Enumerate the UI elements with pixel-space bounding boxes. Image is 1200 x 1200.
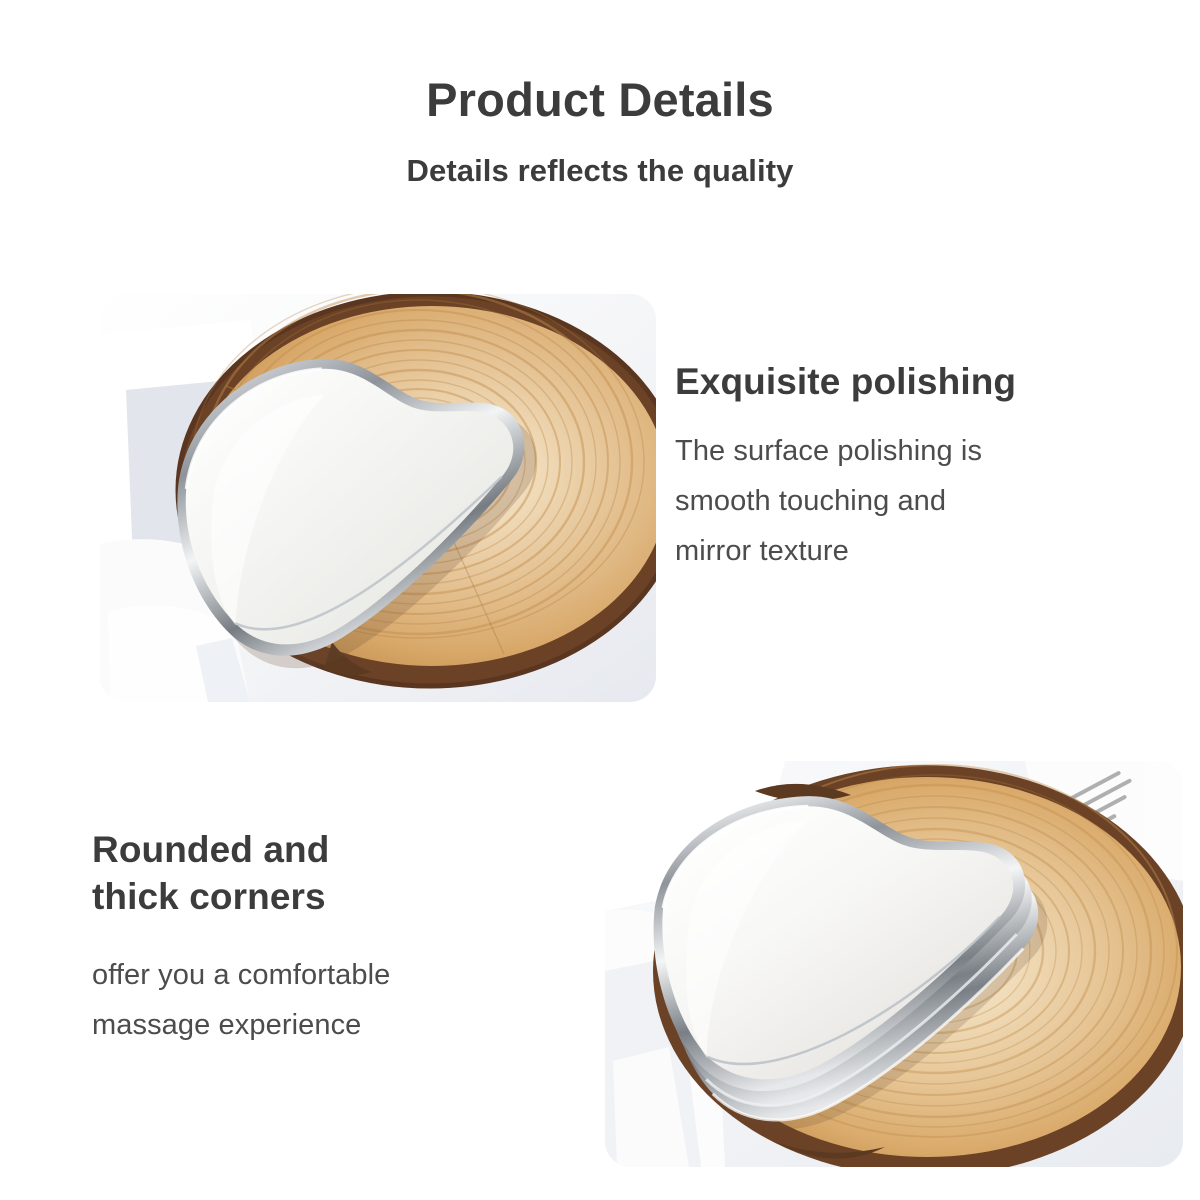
feature-heading-corners: Rounded and thick corners <box>92 826 552 921</box>
product-photo-corners-image <box>605 761 1183 1167</box>
page-subtitle: Details reflects the quality <box>0 126 1200 188</box>
product-photo-corners[interactable] <box>605 761 1183 1167</box>
feature-heading-polishing: Exquisite polishing <box>675 358 1145 405</box>
feature-body-corners: offer you a comfortable massage experien… <box>92 921 552 1051</box>
product-photo-polishing-image <box>100 294 656 702</box>
feature-body-line: massage experience <box>92 1001 552 1051</box>
feature-body-line: The surface polishing is <box>675 427 1145 477</box>
feature-body-polishing: The surface polishing is smooth touching… <box>675 405 1145 577</box>
feature-block-polishing: Exquisite polishing The surface polishin… <box>675 358 1145 577</box>
page-title: Product Details <box>0 0 1200 126</box>
feature-heading-line: Rounded and <box>92 826 552 873</box>
product-photo-polishing[interactable] <box>100 294 656 702</box>
feature-body-line: mirror texture <box>675 527 1145 577</box>
feature-heading-line: thick corners <box>92 873 552 920</box>
feature-block-corners: Rounded and thick corners offer you a co… <box>92 826 552 1050</box>
page-header: Product Details Details reflects the qua… <box>0 0 1200 188</box>
feature-body-line: offer you a comfortable <box>92 951 552 1001</box>
feature-body-line: smooth touching and <box>675 477 1145 527</box>
